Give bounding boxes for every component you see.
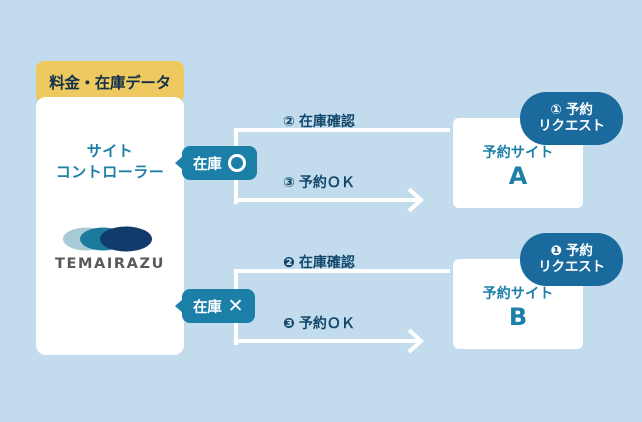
step-number: ❷ bbox=[283, 255, 295, 271]
site-controller-title-line2: コントローラー bbox=[36, 162, 184, 183]
flow-b-step2-label: ❷在庫確認 bbox=[283, 252, 355, 272]
badge-tail bbox=[175, 156, 183, 170]
step-text: 予約ＯＫ bbox=[299, 175, 355, 191]
reservation-request-badge-b: ❶ 予約 リクエスト bbox=[520, 233, 623, 286]
request-badge-line1: ① 予約 bbox=[550, 103, 592, 118]
reservation-site-letter: A bbox=[453, 162, 583, 190]
circle-available-icon bbox=[228, 154, 246, 172]
inventory-badge-unavailable: 在庫 ✕ bbox=[182, 289, 255, 323]
flow-b-step3-label: ❸予約ＯＫ bbox=[283, 313, 355, 333]
reservation-site-letter: B bbox=[453, 303, 583, 331]
reservation-request-badge-a: ① 予約 リクエスト bbox=[520, 92, 623, 145]
step-number: ③ bbox=[283, 175, 295, 191]
flow-a-step3-label: ③予約ＯＫ bbox=[283, 172, 355, 192]
step-text: 予約ＯＫ bbox=[299, 316, 355, 332]
cross-unavailable-icon: ✕ bbox=[228, 297, 244, 316]
flow-a-step2-label: ②在庫確認 bbox=[283, 111, 355, 131]
step-number: ❸ bbox=[283, 316, 295, 332]
temairazu-brand-text: TEMAIRAZU bbox=[36, 256, 184, 272]
step-text: 在庫確認 bbox=[299, 114, 355, 130]
reservation-site-label: 予約サイト bbox=[453, 142, 583, 162]
request-badge-line1: ❶ 予約 bbox=[550, 244, 592, 259]
step-number: ② bbox=[283, 114, 295, 130]
inventory-badge-label: 在庫 bbox=[193, 153, 222, 174]
request-badge-line2: リクエスト bbox=[538, 260, 605, 275]
inventory-badge-label: 在庫 bbox=[193, 296, 222, 317]
site-controller-title: サイト コントローラー bbox=[36, 141, 184, 184]
inventory-badge-available: 在庫 bbox=[182, 146, 257, 180]
badge-tail bbox=[175, 299, 183, 313]
reservation-site-label: 予約サイト bbox=[453, 283, 583, 303]
request-badge-line2: リクエスト bbox=[538, 119, 605, 134]
temairazu-logo-icon bbox=[56, 225, 164, 253]
step-text: 在庫確認 bbox=[299, 255, 355, 271]
site-controller-header-label: 料金・在庫データ bbox=[49, 71, 171, 93]
site-controller-title-line1: サイト bbox=[36, 141, 184, 162]
